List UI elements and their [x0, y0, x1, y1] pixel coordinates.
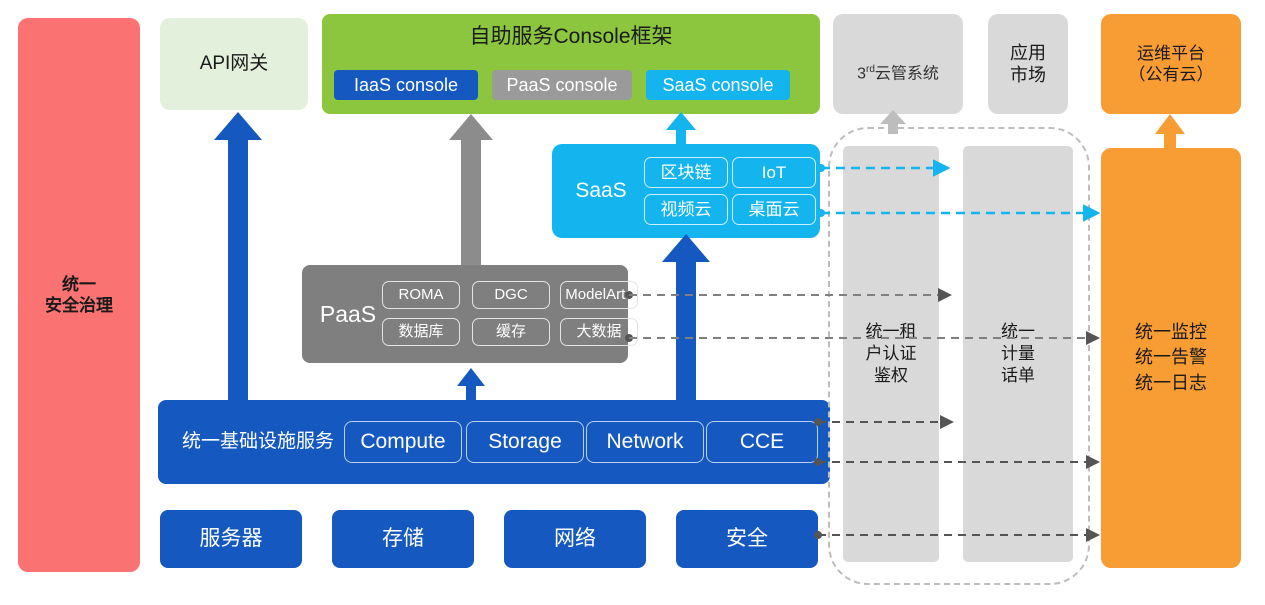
third-party-label: 3rd云管系统	[857, 44, 939, 84]
third-party-prefix: 3	[857, 65, 866, 82]
third-party-superscript: rd	[866, 64, 875, 75]
app-market-box: 应用 市场	[988, 14, 1068, 114]
saas-console-chip[interactable]: SaaS console	[646, 70, 790, 100]
saas-service-iot[interactable]: IoT	[732, 157, 816, 188]
saas-service-blockchain[interactable]: 区块链	[644, 157, 728, 188]
arrow-saas-to-saas-console	[666, 112, 696, 144]
api-gateway-box: API网关	[160, 18, 308, 110]
arrow-ops-panel-to-ops-top	[1155, 114, 1185, 148]
security-governance-panel: 统一 安全治理	[18, 18, 140, 572]
unified-infrastructure-label: 统一基础设施服务	[170, 400, 346, 484]
infra-service-network[interactable]: Network	[586, 421, 704, 463]
saas-service-video-cloud[interactable]: 视频云	[644, 194, 728, 225]
third-party-suffix: 云管系统	[875, 65, 939, 82]
arrow-paas-to-console	[449, 114, 493, 265]
unified-metering-billing-column: 统一 计量 话单	[963, 146, 1073, 562]
architecture-diagram: 统一 安全治理 API网关 自助服务Console框架 IaaS console…	[0, 0, 1265, 605]
console-framework-panel: 自助服务Console框架 IaaS console PaaS console …	[322, 14, 820, 114]
paas-service-dgc[interactable]: DGC	[472, 281, 550, 309]
iaas-console-chip[interactable]: IaaS console	[334, 70, 478, 100]
resource-box-security[interactable]: 安全	[676, 510, 818, 568]
unified-infrastructure-panel: 统一基础设施服务 Compute Storage Network CCE	[158, 400, 830, 484]
console-framework-title: 自助服务Console框架	[322, 24, 820, 50]
paas-console-chip[interactable]: PaaS console	[492, 70, 632, 100]
ops-platform-public-cloud-box: 运维平台 （公有云）	[1101, 14, 1241, 114]
saas-layer-label: SaaS	[562, 144, 640, 238]
saas-layer-panel: SaaS 区块链 IoT 视频云 桌面云	[552, 144, 820, 238]
paas-layer-label: PaaS	[310, 265, 386, 363]
paas-service-roma[interactable]: ROMA	[382, 281, 460, 309]
saas-service-desktop-cloud[interactable]: 桌面云	[732, 194, 816, 225]
infra-service-storage[interactable]: Storage	[466, 421, 584, 463]
unified-monitoring-panel: 统一监控 统一告警 统一日志	[1101, 148, 1241, 568]
arrow-infra-to-api-gateway	[214, 112, 262, 400]
resource-box-storage[interactable]: 存储	[332, 510, 474, 568]
arrow-infra-to-paas	[457, 368, 485, 400]
arrow-infra-to-saas	[662, 234, 710, 400]
infra-service-cce[interactable]: CCE	[706, 421, 818, 463]
third-party-cloud-mgmt-box: 3rd云管系统	[833, 14, 963, 114]
paas-service-modelarts[interactable]: ModelArts	[560, 281, 638, 309]
paas-layer-panel: PaaS ROMA DGC ModelArts 数据库 缓存 大数据	[302, 265, 628, 363]
infra-service-compute[interactable]: Compute	[344, 421, 462, 463]
resource-box-network[interactable]: 网络	[504, 510, 646, 568]
unified-tenant-auth-column: 统一租 户认证 鉴权	[843, 146, 939, 562]
paas-service-bigdata[interactable]: 大数据	[560, 318, 638, 346]
paas-service-database[interactable]: 数据库	[382, 318, 460, 346]
paas-service-cache[interactable]: 缓存	[472, 318, 550, 346]
resource-box-server[interactable]: 服务器	[160, 510, 302, 568]
